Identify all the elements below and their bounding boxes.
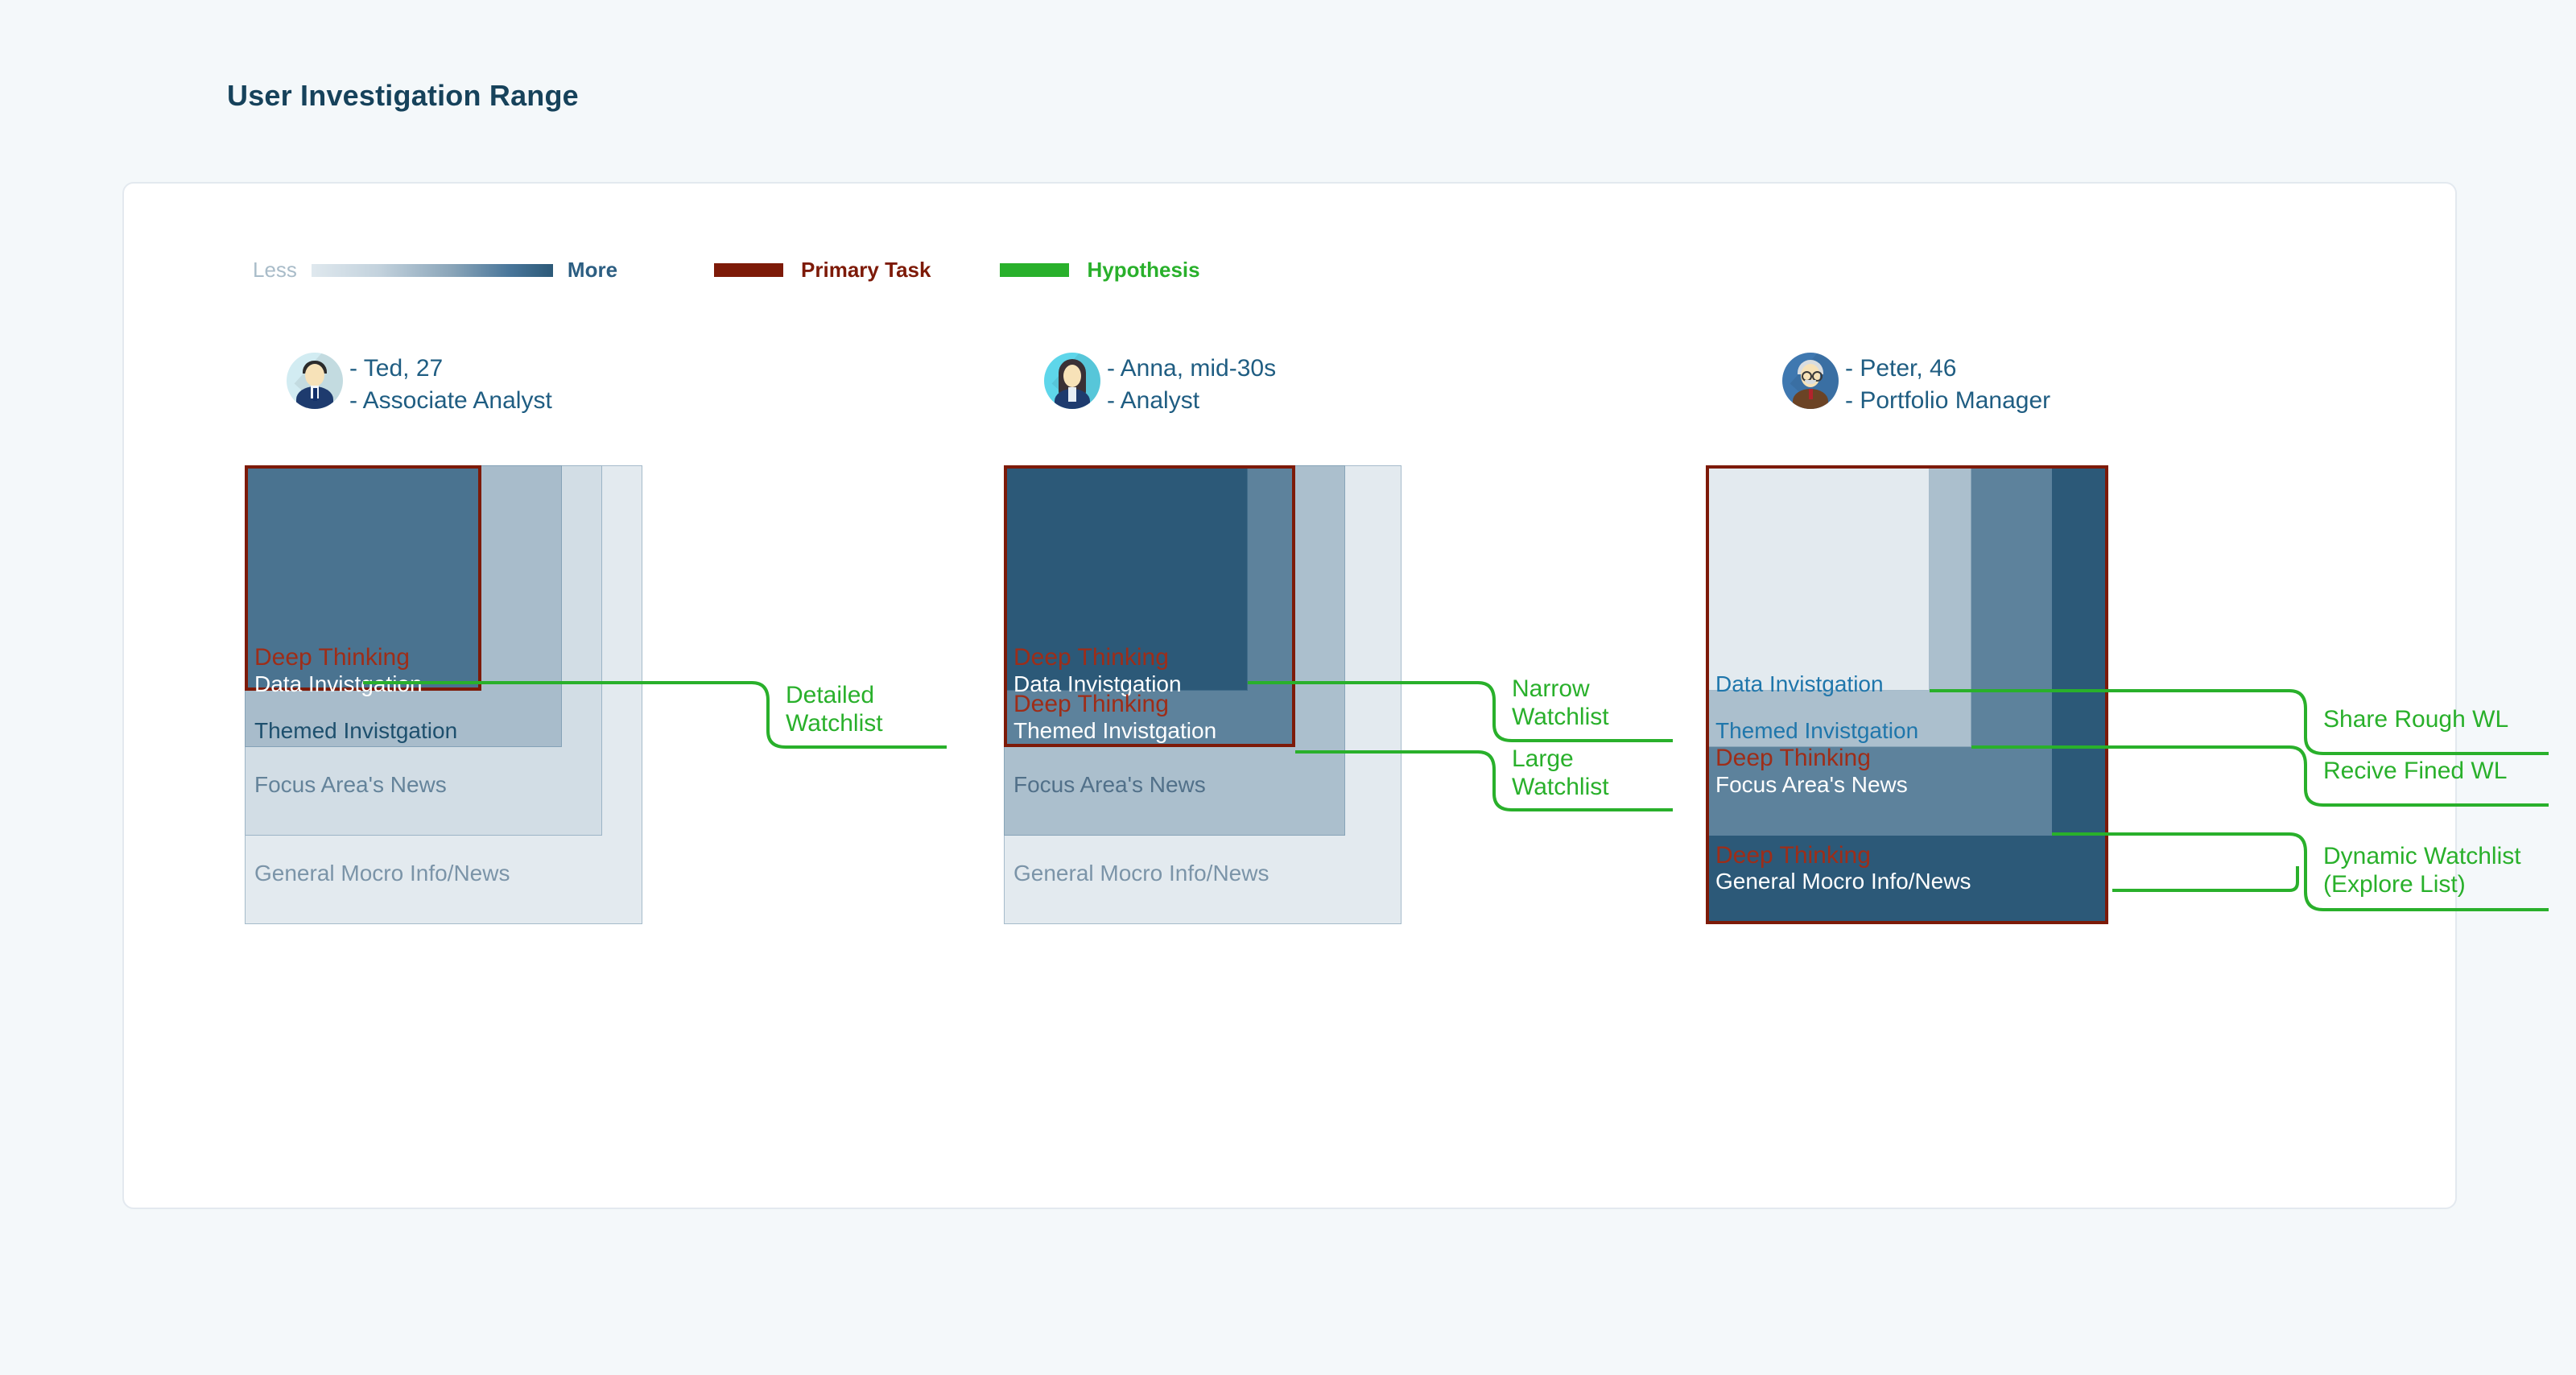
layer-label-general-macro: General Mocro Info/News [1013, 861, 1269, 886]
layer-label-focus-area: Focus Area's News [254, 772, 447, 798]
persona-header-2: - Peter, 46 - Portfolio Manager [1782, 353, 2050, 417]
chart-card: Less More Primary Task Hypothesis - Ted,… [122, 182, 2457, 1209]
collar-shape [1068, 387, 1076, 402]
avatar [1782, 353, 1839, 409]
deep-thinking-label: Deep Thinking [1013, 691, 1169, 718]
annotation-line-2: Watchlist [1512, 773, 1609, 801]
layer-label-themed-investigation: Themed Invistgation [1715, 718, 1918, 744]
annotation-share-rough-wl: Share Rough WL [2323, 705, 2508, 733]
avatar [287, 353, 343, 409]
annotation-recive-fined-wl: Recive Fined WL [2323, 757, 2507, 785]
persona-header-0: - Ted, 27 - Associate Analyst [287, 353, 552, 417]
annotation-line-2: Watchlist [1512, 703, 1609, 731]
tie-shape [1809, 389, 1813, 399]
annotation-line-1: Share Rough WL [2323, 705, 2508, 733]
annotation-detailed-watchlist: Detailed Watchlist [786, 681, 883, 738]
deep-thinking-label: Deep Thinking [1715, 842, 1871, 869]
persona-header-1: - Anna, mid-30s - Analyst [1044, 353, 1276, 417]
legend-gradient-bar [312, 264, 553, 277]
persona-role: - Portfolio Manager [1845, 385, 2050, 417]
page-title: User Investigation Range [227, 79, 579, 113]
legend-hypothesis: Hypothesis [1000, 258, 1199, 283]
legend-primary-task: Primary Task [714, 258, 931, 283]
deep-thinking-label: Deep Thinking [1715, 745, 1871, 772]
persona-role: - Analyst [1107, 385, 1276, 417]
annotation-line-1: Detailed [786, 681, 883, 709]
annotation-large-watchlist: Large Watchlist [1512, 745, 1609, 802]
persona-text: - Anna, mid-30s - Analyst [1107, 353, 1276, 417]
layer-data-investigation[interactable] [1706, 465, 1930, 691]
layer-label-data-investigation: Data Invistgation [1715, 671, 1884, 697]
annotation-line-1: Large [1512, 745, 1609, 773]
annotation-dynamic-watchlist: Dynamic Watchlist (Explore List) [2323, 842, 2521, 899]
legend-primary-task-label: Primary Task [801, 258, 931, 283]
persona-name: - Ted, 27 [349, 353, 552, 385]
primary-task-swatch-icon [714, 263, 783, 277]
layer-label-general-macro: General Mocro Info/News [254, 861, 510, 886]
annotation-line-2: Watchlist [786, 709, 883, 737]
annotation-line-2: (Explore List) [2323, 870, 2521, 898]
legend-less-label: Less [253, 258, 297, 283]
layer-label-focus-area: Focus Area's News [1715, 772, 1908, 798]
annotation-line-1: Recive Fined WL [2323, 757, 2507, 785]
annotation-line-1: Dynamic Watchlist [2323, 842, 2521, 870]
legend: Less More Primary Task Hypothesis [253, 258, 1200, 283]
layer-label-general-macro: General Mocro Info/News [1715, 869, 1971, 894]
persona-role: - Associate Analyst [349, 385, 552, 417]
layer-label-themed-investigation: Themed Invistgation [254, 718, 457, 744]
layer-label-data-investigation: Data Invistgation [254, 671, 423, 697]
annotation-line-1: Narrow [1512, 675, 1609, 703]
face-shape [1063, 365, 1081, 387]
persona-name: - Peter, 46 [1845, 353, 2050, 385]
legend-scale: Less More [253, 258, 617, 283]
face-shape [305, 364, 324, 386]
persona-text: - Ted, 27 - Associate Analyst [349, 353, 552, 417]
avatar [1044, 353, 1100, 409]
tie-shape [313, 388, 317, 401]
layer-label-focus-area: Focus Area's News [1013, 772, 1206, 798]
legend-more-label: More [568, 258, 617, 283]
persona-name: - Anna, mid-30s [1107, 353, 1276, 385]
persona-text: - Peter, 46 - Portfolio Manager [1845, 353, 2050, 417]
legend-hypothesis-label: Hypothesis [1087, 258, 1199, 283]
layer-label-themed-investigation: Themed Invistgation [1013, 718, 1216, 744]
hypothesis-swatch-icon [1000, 263, 1069, 277]
deep-thinking-label: Deep Thinking [254, 644, 410, 671]
annotation-narrow-watchlist: Narrow Watchlist [1512, 675, 1609, 732]
deep-thinking-label: Deep Thinking [1013, 644, 1169, 671]
